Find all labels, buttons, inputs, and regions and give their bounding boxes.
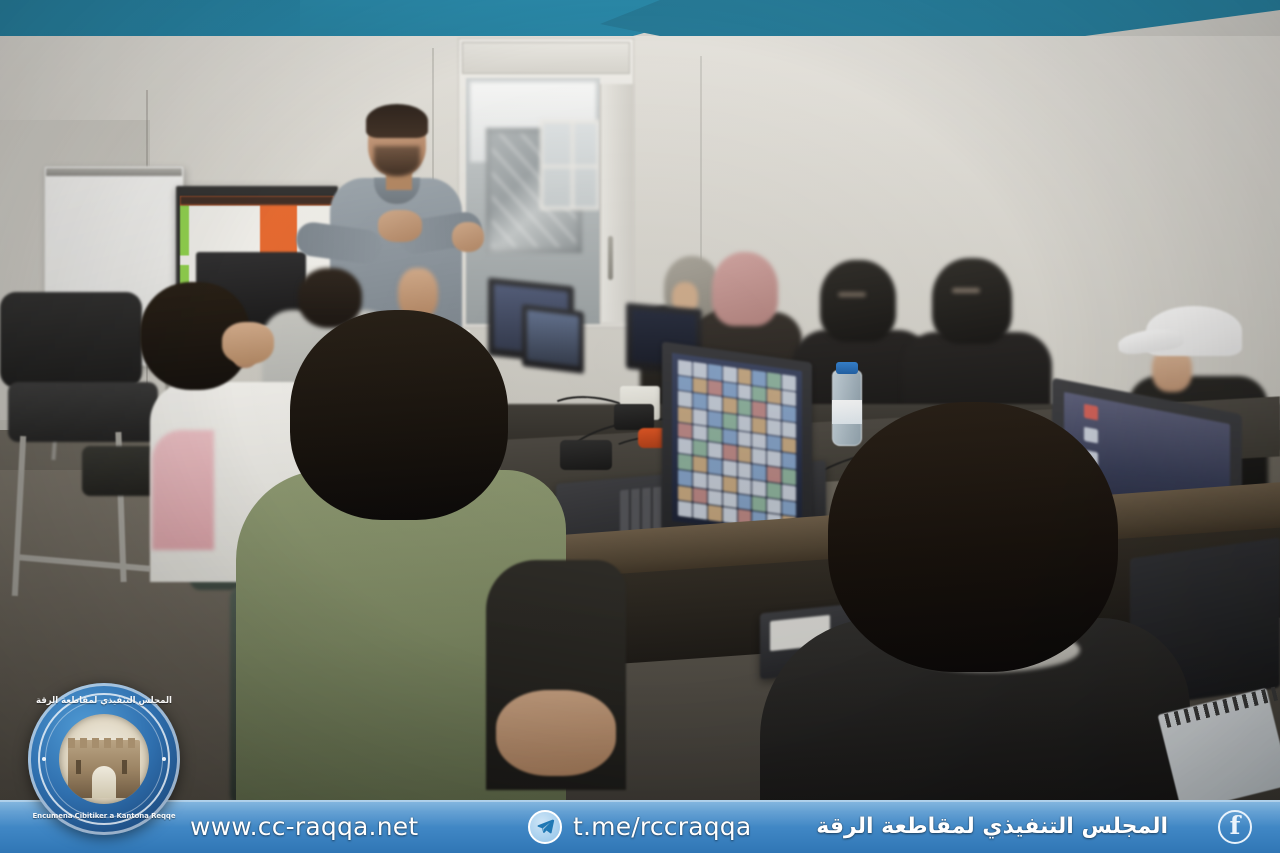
student-niqab-2-eye-slit <box>952 288 980 293</box>
facebook-glyph: f <box>1230 813 1241 838</box>
student-rose-hijab-head <box>712 252 778 326</box>
logo-emblem-disc <box>59 714 149 804</box>
chair <box>8 382 158 442</box>
organization-logo-seal: المجلس التنفيذي لمقاطعة الرقة Encumena C… <box>28 683 180 835</box>
exterior-window <box>540 120 600 210</box>
logo-text-kurdish: Encumena Cibitiker a Kantona Reqqe <box>28 812 180 820</box>
branding-footer-bar: www.cc-raqqa.net t.me/rccraqqa المجلس ال… <box>0 800 1280 853</box>
facebook-icon: f <box>1218 810 1252 844</box>
screenshot-root: www.cc-raqqa.net t.me/rccraqqa المجلس ال… <box>0 0 1280 853</box>
organization-name-arabic: المجلس التنفيذي لمقاطعة الرقة <box>816 814 1168 839</box>
chair <box>0 292 142 388</box>
door-handle <box>608 236 613 280</box>
logo-text-arabic: المجلس التنفيذي لمقاطعة الرقة <box>28 696 180 707</box>
website-link[interactable]: www.cc-raqqa.net <box>190 812 418 841</box>
gate-slit <box>76 760 81 774</box>
instructor-hair <box>366 104 428 138</box>
desktop-icon-grid <box>678 360 796 533</box>
flipchart-clip <box>46 168 182 176</box>
student-niqab-1-eye-slit <box>838 292 866 297</box>
water-bottle-cap <box>836 362 858 374</box>
projection-screen-toolbar <box>180 196 334 205</box>
student-niqab-1-head <box>820 260 896 342</box>
foreground-student-3-head <box>828 402 1118 672</box>
instructor-beard <box>374 146 420 176</box>
laptop-back-center-screen <box>527 310 579 366</box>
logo-dot <box>42 757 46 761</box>
organization-name: المجلس التنفيذي لمقاطعة الرقة <box>816 814 1168 839</box>
telegram-icon <box>528 810 562 844</box>
foreground-student-1-pink-layer <box>152 430 214 550</box>
website-url: www.cc-raqqa.net <box>190 812 418 841</box>
foreground-student-1-hand <box>222 322 274 364</box>
gate-slit <box>122 760 127 774</box>
power-adapter <box>614 404 654 430</box>
telegram-link[interactable]: t.me/rccraqqa <box>528 810 751 844</box>
telegram-handle: t.me/rccraqqa <box>573 812 751 841</box>
foreground-student-2-head <box>290 310 508 520</box>
instructor-left-hand <box>452 222 484 252</box>
door-leaf <box>600 84 634 322</box>
gate-archway <box>92 766 116 798</box>
facebook-link[interactable]: f <box>1218 810 1252 844</box>
instructor-right-hand <box>378 210 422 242</box>
water-bottle-label <box>832 400 862 424</box>
foreground-student-2-hands <box>496 690 616 776</box>
door-transom-window <box>462 42 630 74</box>
student-niqab-2-head <box>932 258 1012 344</box>
logo-dot <box>162 757 166 761</box>
gate-battlements <box>68 738 140 748</box>
laptop-center-screen[interactable] <box>672 353 802 539</box>
power-adapter <box>560 440 612 470</box>
classroom-photo <box>0 0 1280 853</box>
